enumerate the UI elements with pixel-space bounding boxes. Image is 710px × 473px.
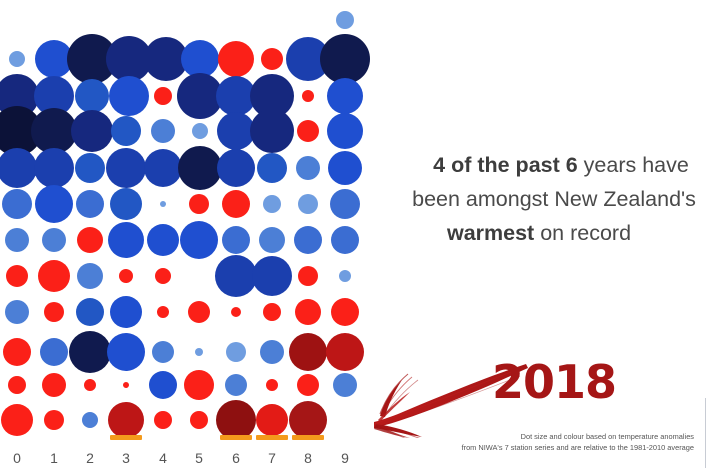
data-dot [8, 376, 26, 394]
right-edge-rule [705, 398, 706, 468]
data-dot [178, 146, 222, 190]
data-dot [297, 374, 319, 396]
data-dot [155, 268, 171, 284]
data-dot [215, 255, 257, 297]
data-dot [154, 411, 172, 429]
data-dot [294, 226, 322, 254]
data-dot [110, 296, 142, 328]
data-dot [261, 48, 283, 70]
headline-bold-1: 4 of the past 6 [433, 153, 578, 177]
data-dot [336, 11, 354, 29]
infographic-canvas: 0123456789 4 of the past 6 years have be… [0, 0, 710, 473]
data-dot [263, 195, 281, 213]
highlight-bar-col-8 [292, 435, 324, 440]
data-dot [9, 51, 25, 67]
data-dot [295, 299, 321, 325]
highlight-bar-col-6 [220, 435, 252, 440]
data-dot [38, 260, 70, 292]
data-dot [259, 227, 285, 253]
data-dot [106, 148, 146, 188]
data-dot [119, 269, 133, 283]
data-dot [160, 201, 166, 207]
data-dot [151, 119, 175, 143]
data-dot [298, 194, 318, 214]
axis-tick-label-9: 9 [330, 450, 360, 466]
data-dot [327, 78, 363, 114]
data-dot [40, 338, 68, 366]
chart-caption: Dot size and colour based on temperature… [432, 432, 694, 453]
data-dot [123, 382, 129, 388]
data-dot [302, 90, 314, 102]
data-dot [189, 194, 209, 214]
data-dot [149, 371, 177, 399]
data-dot [152, 341, 174, 363]
data-dot [35, 185, 73, 223]
data-dot [263, 303, 281, 321]
axis-tick-label-5: 5 [184, 450, 214, 466]
axis-tick-label-4: 4 [148, 450, 178, 466]
data-dot [331, 298, 359, 326]
data-dot [222, 190, 250, 218]
data-dot [144, 149, 182, 187]
axis-tick-label-6: 6 [221, 450, 251, 466]
data-dot [76, 298, 104, 326]
data-dot [6, 265, 28, 287]
data-dot [77, 227, 103, 253]
axis-tick-label-2: 2 [75, 450, 105, 466]
data-dot [225, 374, 247, 396]
data-dot [257, 153, 287, 183]
axis-tick-label-1: 1 [39, 450, 69, 466]
highlight-bar-col-7 [256, 435, 288, 440]
axis-tick-label-7: 7 [257, 450, 287, 466]
data-dot [195, 348, 203, 356]
data-dot [77, 263, 103, 289]
data-dot [188, 301, 210, 323]
data-dot [327, 113, 363, 149]
data-dot [5, 228, 29, 252]
data-dot [231, 307, 241, 317]
data-dot [44, 410, 64, 430]
headline-line-2: been amongst New Zealand's [392, 182, 710, 216]
data-dot [108, 222, 144, 258]
data-dot [266, 379, 278, 391]
headline-rest-1: years have [578, 153, 689, 177]
data-dot [296, 156, 320, 180]
data-dot [82, 412, 98, 428]
data-dot [180, 221, 218, 259]
data-dot [328, 151, 362, 185]
caption-line-1: Dot size and colour based on temperature… [432, 432, 694, 443]
data-dot [107, 333, 145, 371]
data-dot [110, 188, 142, 220]
data-dot [111, 116, 141, 146]
data-dot [76, 190, 104, 218]
data-dot [222, 226, 250, 254]
data-dot [109, 76, 149, 116]
data-dot [260, 340, 284, 364]
data-dot [298, 266, 318, 286]
x-axis: 0123456789 [0, 432, 375, 473]
data-dot [320, 34, 370, 84]
headline-line-1: 4 of the past 6 years have [392, 148, 710, 182]
data-dot [2, 189, 32, 219]
data-dot [42, 373, 66, 397]
headline-bold-3: warmest [447, 221, 534, 245]
data-dot [331, 226, 359, 254]
headline-line-3: warmest on record [392, 216, 710, 250]
data-dot [192, 123, 208, 139]
data-dot [71, 110, 113, 152]
data-dot [250, 109, 294, 153]
data-dot [75, 153, 105, 183]
data-dot [252, 256, 292, 296]
data-dot [154, 87, 172, 105]
axis-tick-label-0: 0 [2, 450, 32, 466]
data-dot [3, 338, 31, 366]
data-dot [217, 149, 255, 187]
headline-rest-3: on record [534, 221, 631, 245]
data-dot [84, 379, 96, 391]
data-dot [184, 370, 214, 400]
dot-layer [0, 0, 375, 440]
highlight-bar-col-3 [110, 435, 142, 440]
year-callout-2018: 2018 [492, 355, 616, 409]
dot-matrix-chart: 0123456789 [0, 0, 375, 473]
data-dot [289, 333, 327, 371]
data-dot [34, 148, 74, 188]
axis-tick-label-8: 8 [293, 450, 323, 466]
data-dot [218, 41, 254, 77]
data-dot [69, 331, 111, 373]
data-dot [0, 148, 37, 188]
data-dot [190, 411, 208, 429]
data-dot [157, 306, 169, 318]
headline-text: 4 of the past 6 years have been amongst … [392, 148, 710, 250]
axis-tick-label-3: 3 [111, 450, 141, 466]
data-dot [330, 189, 360, 219]
data-dot [5, 300, 29, 324]
data-dot [339, 270, 351, 282]
caption-line-2: from NIWA's 7 station series and are rel… [432, 443, 694, 454]
data-dot [297, 120, 319, 142]
data-dot [75, 79, 109, 113]
data-dot [42, 228, 66, 252]
data-dot [44, 302, 64, 322]
data-dot [226, 342, 246, 362]
data-dot [147, 224, 179, 256]
